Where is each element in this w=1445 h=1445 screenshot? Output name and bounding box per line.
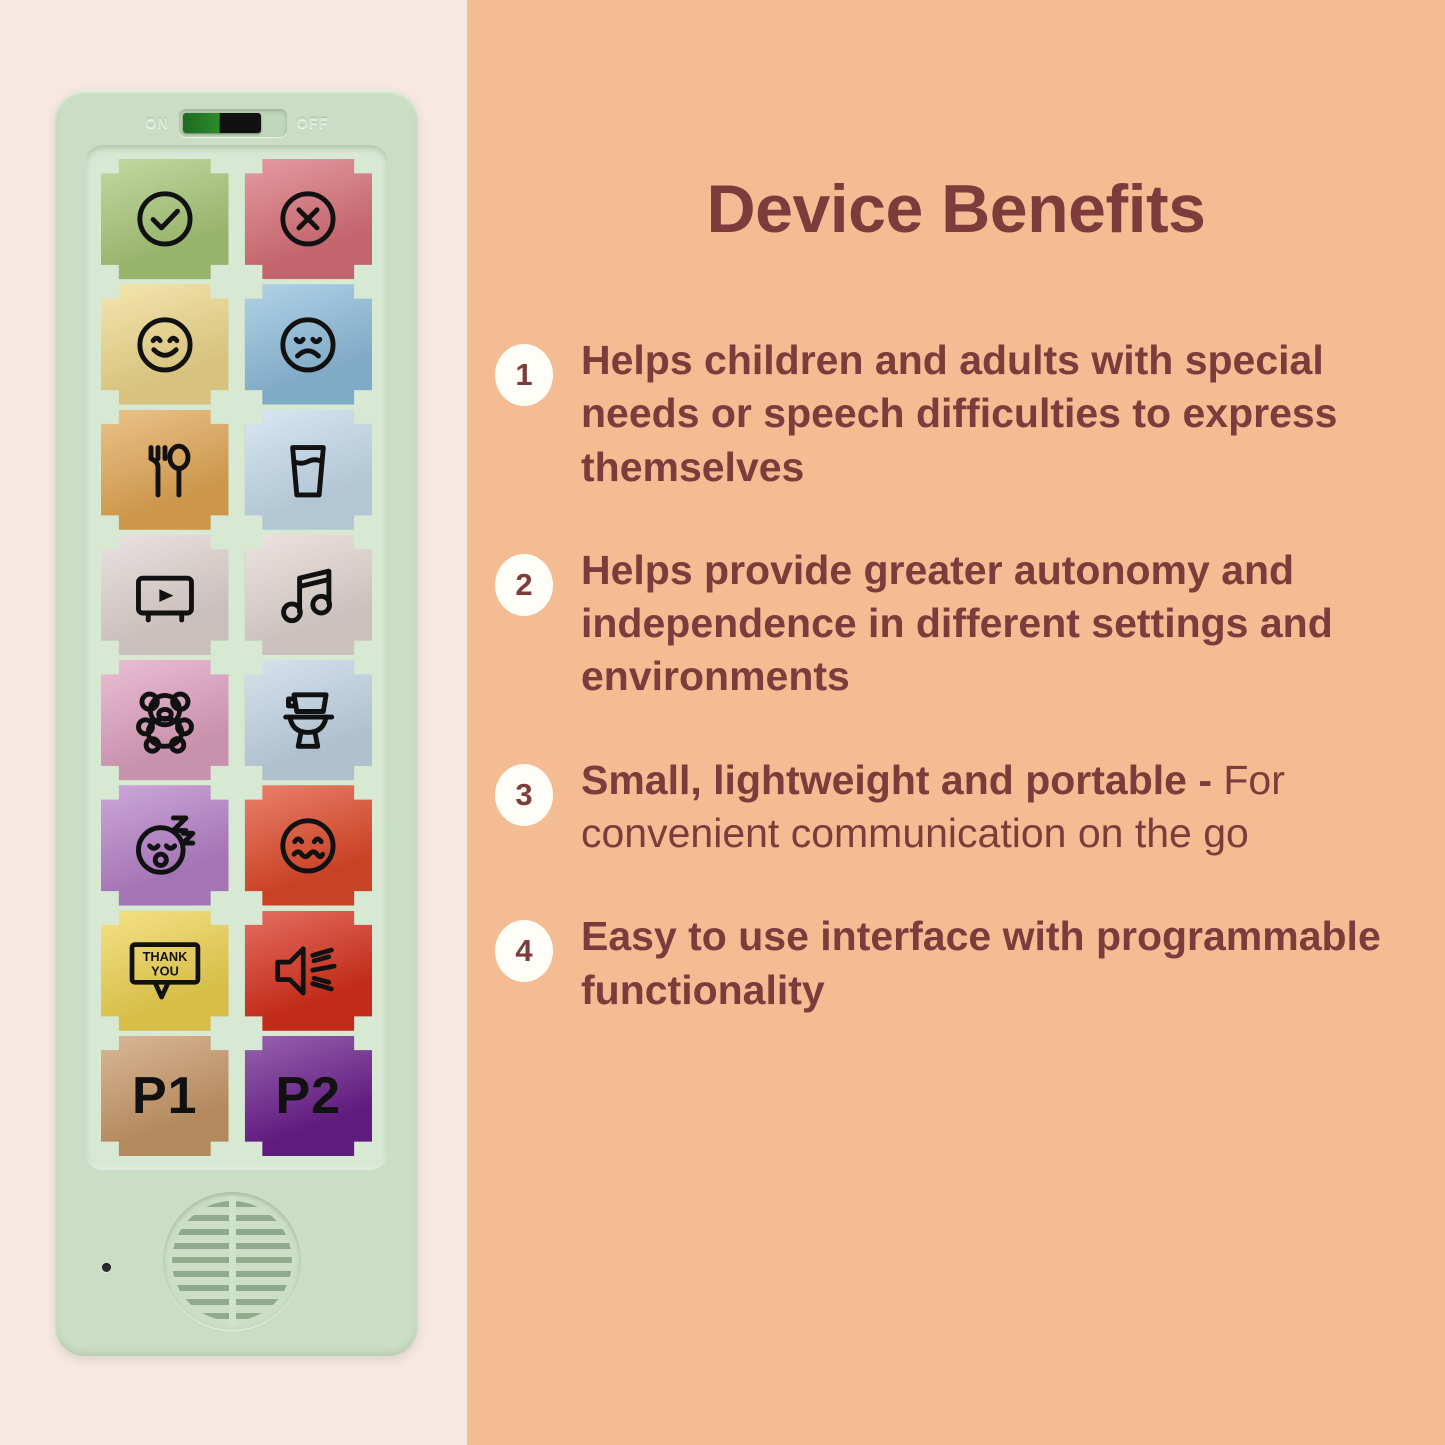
program-1-button-label: P1 — [132, 1070, 198, 1122]
unwell-button[interactable] — [245, 785, 373, 905]
program-2-button[interactable]: P2 — [245, 1036, 373, 1156]
sick-face-icon — [271, 811, 345, 881]
svg-text:YOU: YOU — [151, 963, 179, 978]
benefits-list: 1Helps children and adults with special … — [495, 330, 1409, 1063]
power-on-label: ON — [145, 115, 169, 132]
no-button[interactable] — [245, 159, 373, 279]
benefit-number-badge: 3 — [495, 764, 553, 826]
benefit-item-4: 4Easy to use interface with programmable… — [495, 906, 1409, 1017]
aac-communication-device: ON OFF — [55, 90, 418, 1356]
toilet-icon — [271, 685, 345, 755]
benefit-text: Small, lightweight and portable - For co… — [581, 750, 1409, 861]
speaker-button[interactable] — [245, 911, 373, 1031]
benefit-text: Helps children and adults with special n… — [581, 330, 1409, 494]
speaker-grille — [163, 1192, 301, 1330]
page-title: Device Benefits — [467, 170, 1445, 248]
x-circle-icon — [271, 184, 345, 254]
benefit-number-badge: 4 — [495, 920, 553, 982]
program-2-button-label: P2 — [275, 1070, 341, 1122]
power-off-label: OFF — [297, 115, 329, 132]
benefit-text-strong: Easy to use interface with programmable … — [581, 913, 1381, 1012]
benefit-text-strong: Helps provide greater autonomy and indep… — [581, 547, 1333, 700]
toilet-button[interactable] — [245, 660, 373, 780]
benefit-item-2: 2Helps provide greater autonomy and inde… — [495, 540, 1409, 704]
music-note-icon — [271, 560, 345, 630]
benefit-item-3: 3Small, lightweight and portable - For c… — [495, 750, 1409, 861]
eat-button[interactable] — [101, 410, 229, 530]
thank-you-button[interactable]: THANK YOU — [101, 911, 229, 1031]
drink-button[interactable] — [245, 410, 373, 530]
keypad-well: THANK YOU P1P2 — [85, 145, 388, 1170]
benefit-text: Helps provide greater autonomy and indep… — [581, 540, 1409, 704]
check-circle-icon — [128, 184, 202, 254]
water-glass-icon — [271, 435, 345, 505]
loudspeaker-icon — [271, 936, 345, 1006]
benefit-number-badge: 2 — [495, 554, 553, 616]
teddy-bear-icon — [128, 685, 202, 755]
benefit-text-strong: Small, lightweight and portable - — [581, 757, 1223, 803]
power-switch[interactable]: ON OFF — [55, 102, 418, 144]
benefit-text: Easy to use interface with programmable … — [581, 906, 1409, 1017]
svg-text:THANK: THANK — [142, 949, 187, 964]
fork-spoon-icon — [128, 435, 202, 505]
benefits-panel: Device Benefits 1Helps children and adul… — [467, 0, 1445, 1445]
benefit-text-strong: Helps children and adults with special n… — [581, 337, 1337, 490]
speaker-divider — [229, 1196, 236, 1326]
page-root: ON OFF — [0, 0, 1445, 1445]
microphone-hole — [102, 1263, 111, 1272]
power-switch-knob[interactable] — [183, 113, 261, 133]
button-grid: THANK YOU P1P2 — [101, 159, 372, 1156]
power-switch-track[interactable] — [179, 109, 287, 137]
benefit-item-1: 1Helps children and adults with special … — [495, 330, 1409, 494]
speech-bubble-icon: THANK YOU — [128, 936, 202, 1006]
product-image-panel: ON OFF — [0, 0, 467, 1445]
benefit-number-badge: 1 — [495, 344, 553, 406]
sad-button[interactable] — [245, 284, 373, 404]
happy-face-icon — [128, 310, 202, 380]
sleep-button[interactable] — [101, 785, 229, 905]
happy-button[interactable] — [101, 284, 229, 404]
tv-button[interactable] — [101, 535, 229, 655]
play-toy-button[interactable] — [101, 660, 229, 780]
sleepy-face-icon — [128, 811, 202, 881]
program-1-button[interactable]: P1 — [101, 1036, 229, 1156]
tv-play-icon — [128, 560, 202, 630]
sad-face-icon — [271, 310, 345, 380]
device-bottom — [55, 1170, 418, 1356]
music-button[interactable] — [245, 535, 373, 655]
yes-button[interactable] — [101, 159, 229, 279]
